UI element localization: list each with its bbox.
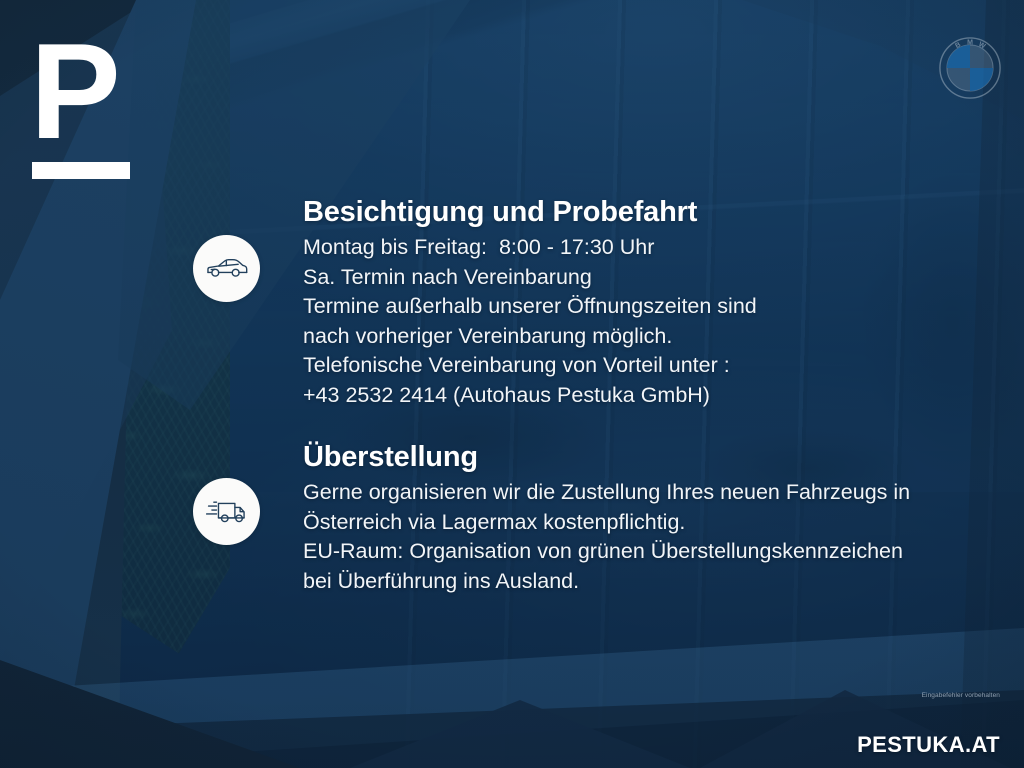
section-ueberstellung-body: Überstellung Gerne organisieren wir die … <box>303 441 1003 596</box>
section-ueberstellung-lines: Gerne organisieren wir die Zustellung Ih… <box>303 478 1003 596</box>
section-ueberstellung-title: Überstellung <box>303 441 1003 473</box>
brand-website-label[interactable]: PESTUKA.AT <box>857 732 1000 758</box>
fineprint-disclaimer: Eingabefehler vorbehalten <box>922 691 1000 700</box>
section-besichtigung-lines: Montag bis Freitag: 8:00 - 17:30 Uhr Sa.… <box>303 233 1003 410</box>
car-side-icon <box>193 235 260 302</box>
opening-hours-saturday: Sa. Termin nach Vereinbarung <box>303 263 1003 293</box>
svg-text:M: M <box>967 39 973 46</box>
delivery-note-line-1: Gerne organisieren wir die Zustellung Ih… <box>303 478 1003 508</box>
appointment-note-line-2: nach vorheriger Vereinbarung möglich. <box>303 322 1003 352</box>
section-besichtigung-title: Besichtigung und Probefahrt <box>303 196 1003 228</box>
delivery-note-line-2: Österreich via Lagermax kostenpflichtig. <box>303 508 1003 538</box>
section-ueberstellung: Überstellung Gerne organisieren wir die … <box>193 441 1003 596</box>
appointment-note-line-1: Termine außerhalb unserer Öffnungszeiten… <box>303 292 1003 322</box>
parking-p-logo: P <box>30 36 142 179</box>
section-besichtigung: Besichtigung und Probefahrt Montag bis F… <box>193 196 1003 410</box>
phone-number[interactable]: +43 2532 2414 (Autohaus Pestuka GmbH) <box>303 381 1003 411</box>
eu-plates-line-1: EU-Raum: Organisation von grünen Überste… <box>303 537 1003 567</box>
opening-hours-weekdays: Montag bis Freitag: 8:00 - 17:30 Uhr <box>303 233 1003 263</box>
bmw-roundel-icon: B M W <box>938 36 1002 100</box>
delivery-truck-icon <box>193 478 260 545</box>
parking-p-letter: P <box>30 36 142 148</box>
eu-plates-line-2: bei Überführung ins Ausland. <box>303 567 1003 597</box>
promo-banner: P B M W <box>0 0 1024 768</box>
section-besichtigung-body: Besichtigung und Probefahrt Montag bis F… <box>303 196 1003 410</box>
phone-advice-note: Telefonische Vereinbarung von Vorteil un… <box>303 351 1003 381</box>
